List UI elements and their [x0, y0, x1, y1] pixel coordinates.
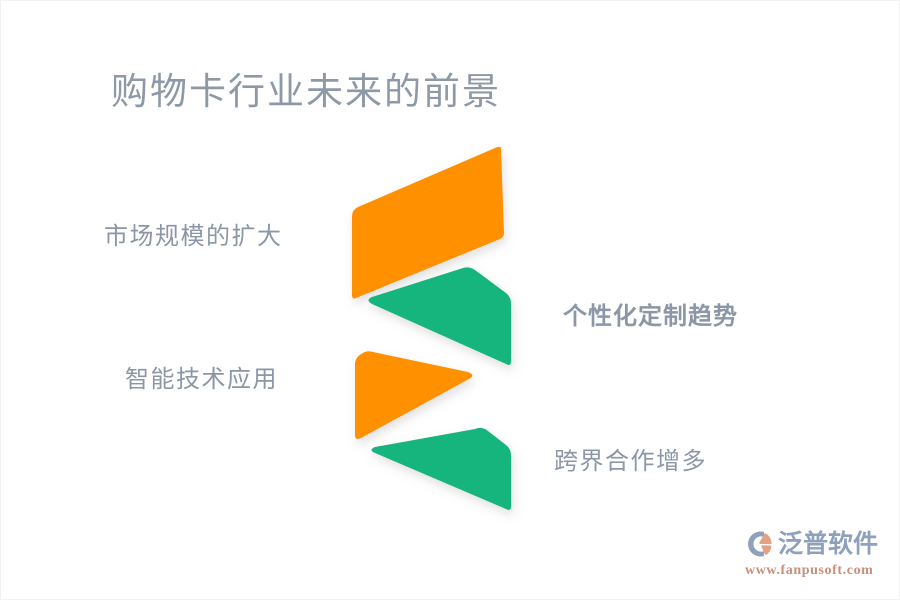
fanpu-logo-icon [743, 529, 773, 559]
slide-canvas: 购物卡行业未来的前景 市场规模的扩大 个性化定制趋势 智能技术应用 跨界合作增多 [0, 0, 900, 600]
diagram-label-crossover-cooperation: 跨界合作增多 [554, 446, 707, 478]
brand-logo: 泛普软件 www.fanpusoft.com [743, 529, 885, 587]
zigzag-banner-2 [369, 267, 512, 365]
diagram-label-personalization: 个性化定制趋势 [563, 301, 738, 333]
zigzag-banner-3 [355, 351, 472, 439]
page-title: 购物卡行业未来的前景 [111, 69, 501, 117]
zigzag-banner-1 [352, 147, 504, 299]
logo-company-name: 泛普软件 [778, 529, 878, 559]
logo-row: 泛普软件 [743, 529, 878, 559]
diagram-label-smart-technology: 智能技术应用 [125, 364, 278, 396]
zigzag-banner-4 [372, 428, 512, 510]
diagram-label-market-scale: 市场规模的扩大 [104, 221, 283, 253]
logo-website-url: www.fanpusoft.com [745, 562, 873, 580]
